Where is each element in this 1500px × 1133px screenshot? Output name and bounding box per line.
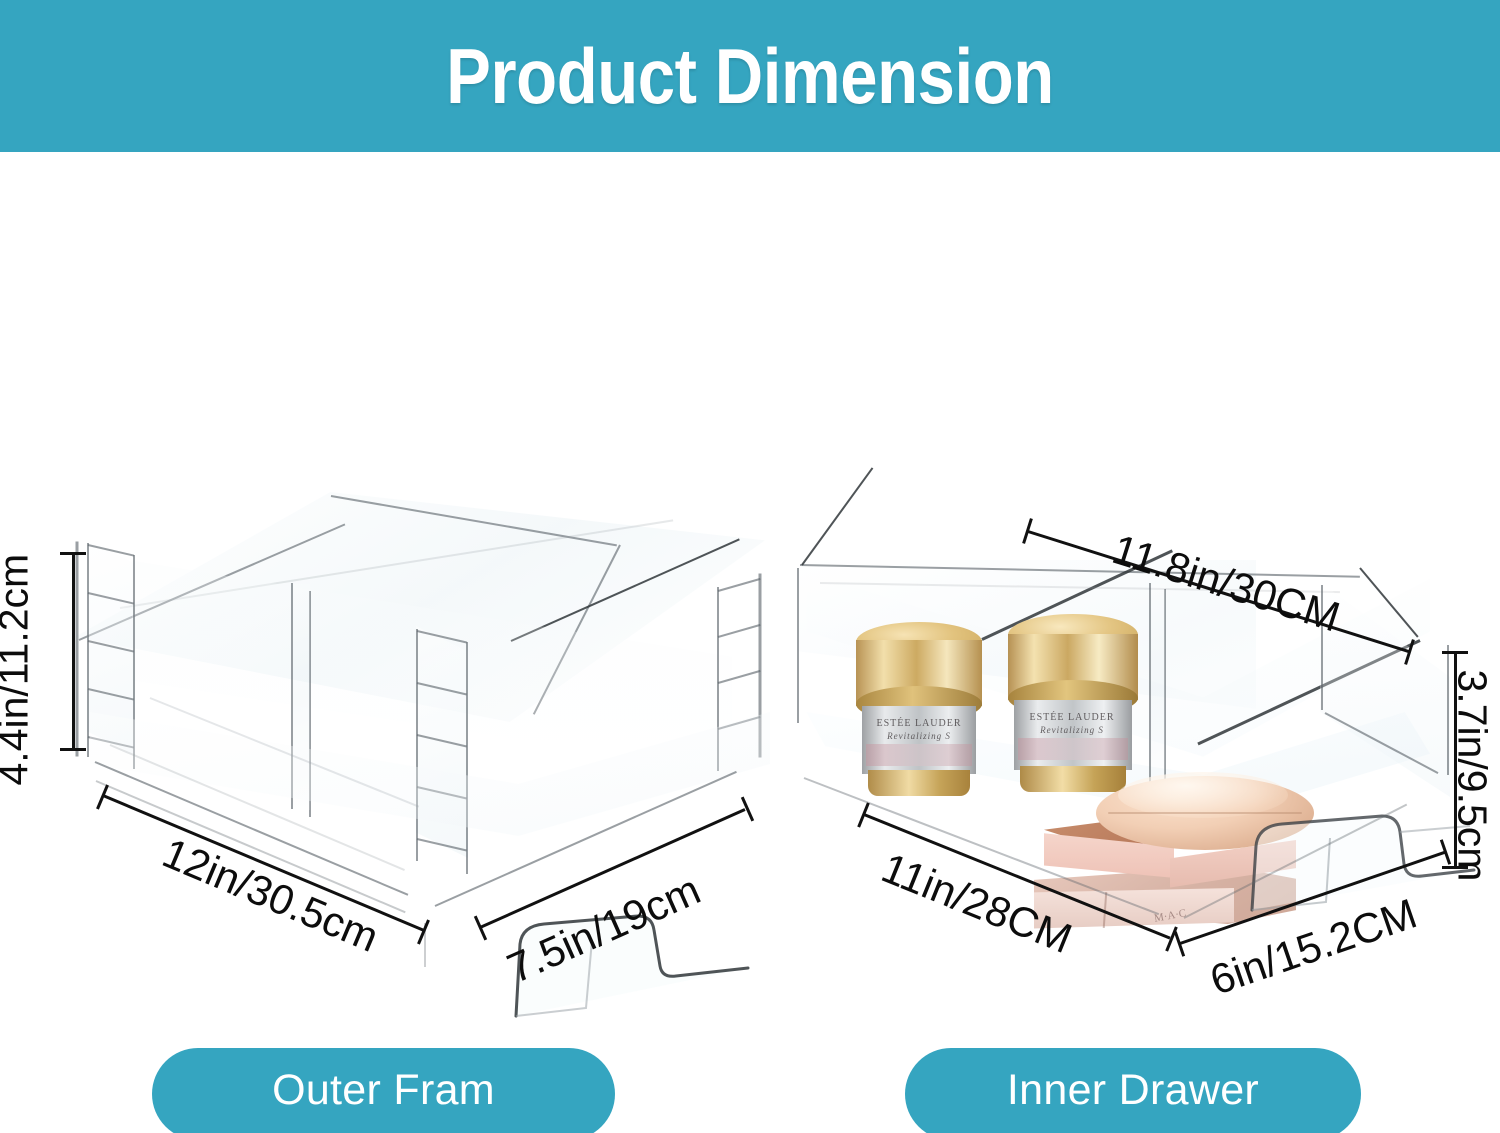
frame-right-corner-rib-3 <box>718 670 761 684</box>
header-banner: Product Dimension <box>0 0 1500 152</box>
product-outer-frame-illustration: 4.4in/11.2cm 12in/30.5cm 7.5in/19cm <box>0 152 800 1032</box>
caption-pill-outer-frame[interactable]: Outer Fram <box>152 1048 615 1133</box>
dimension-outer-depth-cap-left <box>474 916 487 941</box>
drawer-left-wall-vertical <box>797 568 799 723</box>
dimension-outer-height-cap-top <box>60 552 86 555</box>
frame-left-rail-outer-edge <box>87 543 89 757</box>
frame-right-corner-rib-2 <box>718 624 761 638</box>
frame-right-corner-rib-1 <box>718 578 761 592</box>
caption-pill-inner-drawer-label: Inner Drawer <box>1007 1066 1259 1115</box>
jar-2-pink-tint <box>1018 738 1128 760</box>
frame-right-rail-outer-edge <box>416 629 418 861</box>
products-stage: 4.4in/11.2cm 12in/30.5cm 7.5in/19cm <box>0 152 1500 1032</box>
jar-1-base <box>868 770 970 796</box>
page-title: Product Dimension <box>105 34 1395 118</box>
frame-right-rail-inner-edge <box>466 642 468 874</box>
drawer-top-rim-left-diagonal <box>801 467 873 565</box>
cosmetic-cream-jar-1: ESTÉE LAUDERRevitalizing S <box>856 622 982 798</box>
frame-right-rail <box>412 616 482 906</box>
dimension-outer-height-cap-bottom <box>60 748 86 751</box>
jar-1-pink-tint <box>866 744 972 766</box>
product-inner-drawer-illustration: ESTÉE LAUDERRevitalizing S ESTÉE LAUDERR… <box>760 152 1500 1032</box>
dimension-outer-width-label: 12in/30.5cm <box>156 829 386 962</box>
dimension-inner-height-label: 3.7in/9.5cm <box>1449 670 1496 882</box>
frame-left-corner-post <box>76 542 79 757</box>
dimension-inner-height-cap-top <box>1442 651 1468 654</box>
dimension-outer-height-line <box>72 553 75 750</box>
dimension-outer-height-label: 4.4in/11.2cm <box>0 554 38 786</box>
caption-pill-inner-drawer[interactable]: Inner Drawer <box>905 1048 1361 1133</box>
caption-pill-outer-frame-label: Outer Fram <box>272 1066 495 1115</box>
product-dimension-infographic: Product Dimension <box>0 0 1500 1133</box>
